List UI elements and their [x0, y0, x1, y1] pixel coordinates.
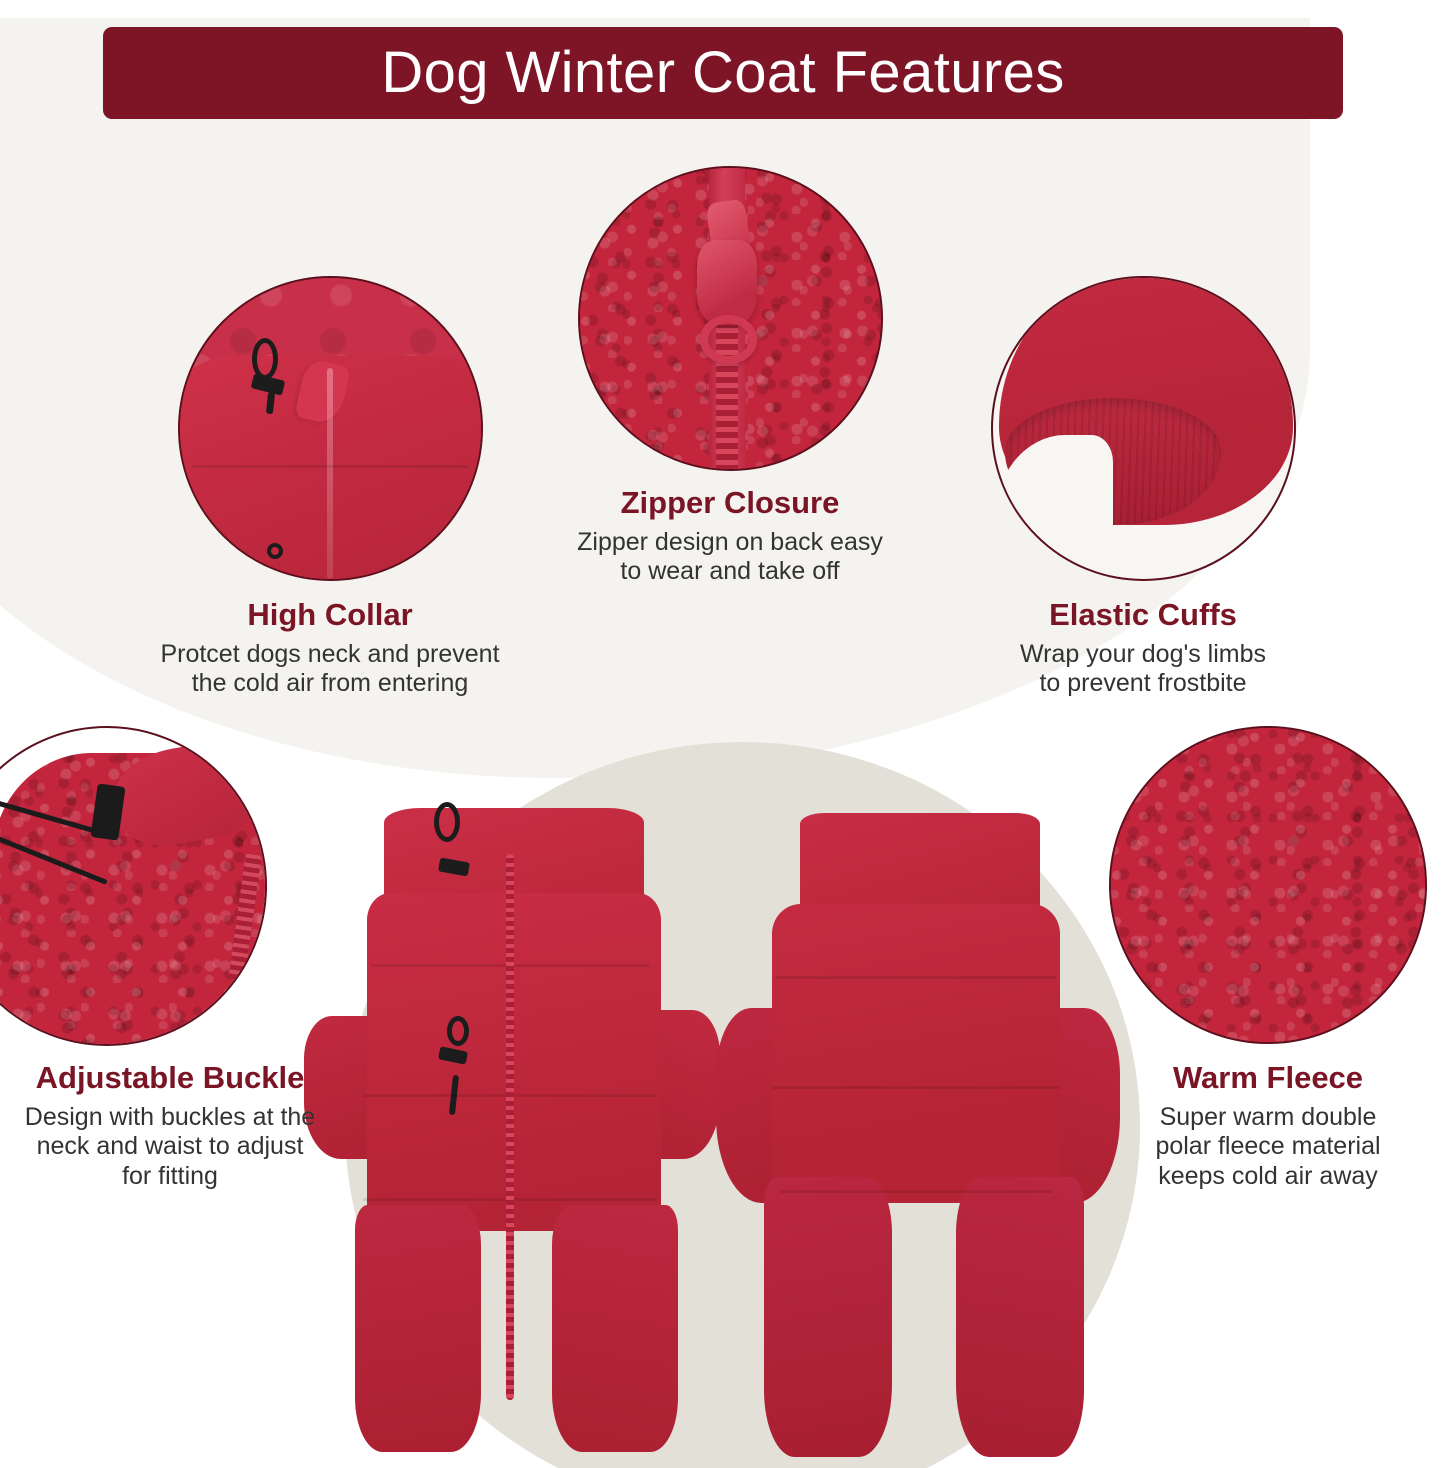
front-left-leg — [355, 1205, 481, 1452]
chest-seam — [192, 465, 469, 468]
caption: High Collar Protcet dogs neck and preven… — [112, 597, 548, 699]
caption: Adjustable Buckle Design with buckles at… — [0, 1060, 375, 1191]
warm-fleece-photo — [1109, 726, 1427, 1044]
feature-high-collar: High Collar Protcet dogs neck and preven… — [112, 276, 548, 699]
garment — [716, 800, 1116, 1450]
feature-title: Adjustable Buckle — [0, 1060, 375, 1096]
feature-title: High Collar — [112, 597, 548, 633]
fabric-texture — [1111, 728, 1425, 1042]
back-right-leg — [956, 1177, 1084, 1457]
feature-description: Super warm double polar fleece material … — [1068, 1103, 1445, 1192]
back-left-leg — [764, 1177, 892, 1457]
feature-title: Warm Fleece — [1068, 1060, 1445, 1096]
feature-description: Protcet dogs neck and prevent the cold a… — [112, 640, 548, 699]
feature-warm-fleece: Warm Fleece Super warm double polar flee… — [1068, 726, 1445, 1191]
feature-title: Elastic Cuffs — [925, 597, 1361, 633]
torso-panel — [367, 893, 661, 1231]
high-collar-photo — [178, 276, 483, 581]
elastic-cuffs-photo — [991, 276, 1296, 581]
zipper-slider-icon — [697, 240, 757, 324]
caption: Elastic Cuffs Wrap your dog's limbs to p… — [925, 597, 1361, 699]
collar-seam — [776, 976, 1056, 979]
waist-drawstring-loop-icon — [447, 1016, 469, 1046]
adjustable-buckle-photo — [0, 726, 267, 1046]
feature-zipper-closure: Zipper Closure Zipper design on back eas… — [512, 166, 948, 587]
infographic-page: Dog Winter Coat Features High Collar Pro… — [0, 0, 1445, 1468]
feature-title: Zipper Closure — [512, 485, 948, 521]
lower-buckle-icon — [267, 543, 283, 559]
back-panel — [772, 904, 1060, 1203]
hip-seam — [780, 1190, 1052, 1193]
page-title: Dog Winter Coat Features — [381, 44, 1064, 102]
header-banner: Dog Winter Coat Features — [103, 27, 1343, 119]
feature-adjustable-buckle: Adjustable Buckle Design with buckles at… — [0, 726, 375, 1191]
zipper-pull-ring-icon — [700, 315, 757, 363]
front-zipper — [506, 854, 514, 1400]
zipper-closure-photo — [578, 166, 883, 471]
feature-description: Wrap your dog's limbs to prevent frostbi… — [925, 640, 1361, 699]
zipper-seam — [327, 368, 333, 579]
caption: Warm Fleece Super warm double polar flee… — [1068, 1060, 1445, 1191]
feature-description: Design with buckles at the neck and wais… — [0, 1103, 375, 1192]
neck-drawstring-loop-icon — [434, 802, 460, 842]
dog-coat-back-view — [716, 800, 1116, 1450]
front-right-leg — [552, 1205, 678, 1452]
leg-gap — [892, 1229, 944, 1340]
caption: Zipper Closure Zipper design on back eas… — [512, 485, 948, 587]
feature-elastic-cuffs: Elastic Cuffs Wrap your dog's limbs to p… — [925, 276, 1361, 699]
feature-description: Zipper design on back easy to wear and t… — [512, 528, 948, 587]
yoke-seam — [772, 1086, 1060, 1089]
